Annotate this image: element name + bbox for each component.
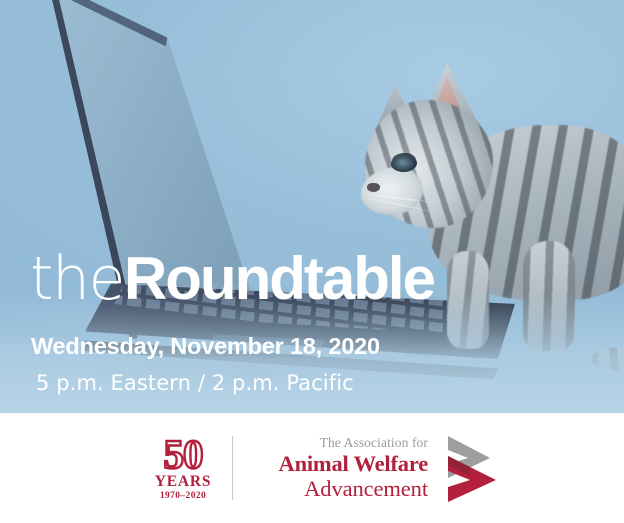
footer: 50 YEARS 1970–2020 The Association for A… [0, 413, 624, 523]
association-line-3: Advancement [304, 476, 428, 502]
anniversary-years-label: YEARS [155, 474, 212, 490]
kitten-nose [367, 183, 380, 192]
anniversary-number: 50 [164, 435, 203, 473]
association-wordmark: The Association for Animal Welfare Advan… [250, 434, 428, 502]
table-surface [0, 293, 624, 413]
organization-logo-lockup: 50 YEARS 1970–2020 The Association for A… [150, 429, 500, 507]
double-chevron-icon [446, 432, 500, 504]
hero-photo: theRoundtable Wednesday, November 18, 20… [0, 0, 624, 413]
anniversary-mark: 50 YEARS 1970–2020 [150, 435, 216, 502]
logo-divider [232, 436, 233, 500]
association-line-1: The Association for [320, 434, 428, 451]
roundtable-promo-poster: theRoundtable Wednesday, November 18, 20… [0, 0, 624, 523]
anniversary-year-range: 1970–2020 [160, 491, 206, 502]
association-line-2: Animal Welfare [279, 451, 428, 476]
